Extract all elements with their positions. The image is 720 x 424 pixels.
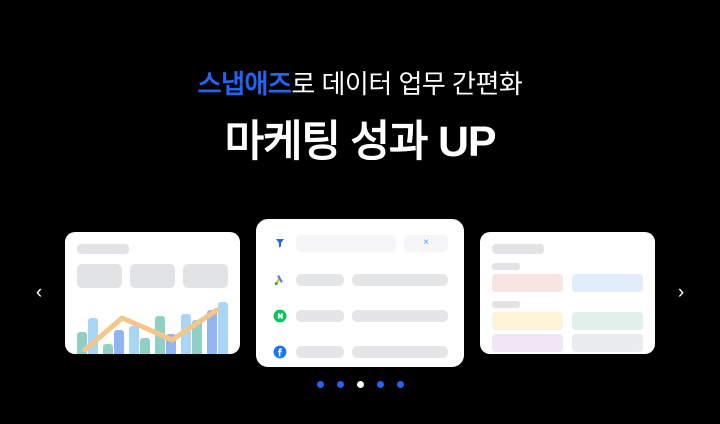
channel-name-placeholder: [296, 274, 344, 286]
facebook-icon: [272, 344, 288, 360]
pagination-dot-5[interactable]: [397, 381, 404, 388]
carousel-next-button[interactable]: ›: [670, 278, 692, 308]
stat-box: [130, 264, 175, 288]
channel-name-placeholder: [296, 310, 344, 322]
placeholder-title: [492, 244, 544, 254]
page-title: 마케팅 성과 UP: [0, 117, 720, 169]
color-block-mint: [572, 312, 643, 330]
filter-icon: [272, 235, 288, 251]
brand-name: 스냅애즈: [198, 69, 292, 99]
channel-row-naver[interactable]: [272, 308, 448, 324]
carousel-prev-button[interactable]: ‹: [28, 278, 50, 308]
close-icon: ×: [423, 238, 429, 248]
chevron-left-icon: ‹: [36, 283, 42, 302]
color-block-blue: [572, 274, 643, 292]
hero-subtitle-rest: 로 데이터 업무 간편화: [291, 69, 522, 99]
bar-line-chart: [77, 296, 228, 354]
clear-search-button[interactable]: ×: [404, 235, 448, 252]
color-block-pink: [492, 274, 563, 292]
hero-banner: 스냅애즈로 데이터 업무 간편화 마케팅 성과 UP: [0, 0, 720, 424]
pagination-dot-1[interactable]: [317, 381, 324, 388]
channel-name-placeholder: [296, 346, 344, 358]
carousel-slide-report[interactable]: [480, 232, 655, 354]
pagination-dot-3[interactable]: [357, 381, 364, 388]
stat-box: [77, 264, 122, 288]
section-label-placeholder: [492, 263, 520, 270]
carousel-slide-analytics[interactable]: [65, 232, 240, 354]
naver-icon: [272, 308, 288, 324]
channel-value-placeholder: [352, 310, 448, 322]
hero-subtitle: 스냅애즈로 데이터 업무 간편화: [0, 68, 720, 101]
channel-value-placeholder: [352, 274, 448, 286]
block-row: [492, 334, 643, 352]
chart-trend-line: [77, 296, 228, 354]
color-block-purple: [492, 334, 563, 352]
pagination-dot-4[interactable]: [377, 381, 384, 388]
carousel-slide-channels[interactable]: ×: [256, 219, 464, 367]
block-row: [492, 274, 643, 292]
stat-box-row: [77, 264, 228, 288]
section-label-placeholder: [492, 301, 520, 308]
stat-box: [183, 264, 228, 288]
channel-value-placeholder: [352, 346, 448, 358]
search-input[interactable]: [296, 235, 396, 252]
google-ads-icon: [272, 272, 288, 288]
channel-row-google-ads[interactable]: [272, 272, 448, 288]
carousel-pagination: [0, 381, 720, 388]
pagination-dot-2[interactable]: [337, 381, 344, 388]
block-row: [492, 312, 643, 330]
placeholder-title: [77, 244, 129, 254]
search-row: ×: [272, 235, 448, 252]
hero-headings: 스냅애즈로 데이터 업무 간편화 마케팅 성과 UP: [0, 0, 720, 168]
color-block-yellow: [492, 312, 563, 330]
carousel: ×: [0, 215, 720, 370]
color-block-grey: [572, 334, 643, 352]
chevron-right-icon: ›: [678, 283, 684, 302]
channel-row-facebook[interactable]: [272, 344, 448, 360]
